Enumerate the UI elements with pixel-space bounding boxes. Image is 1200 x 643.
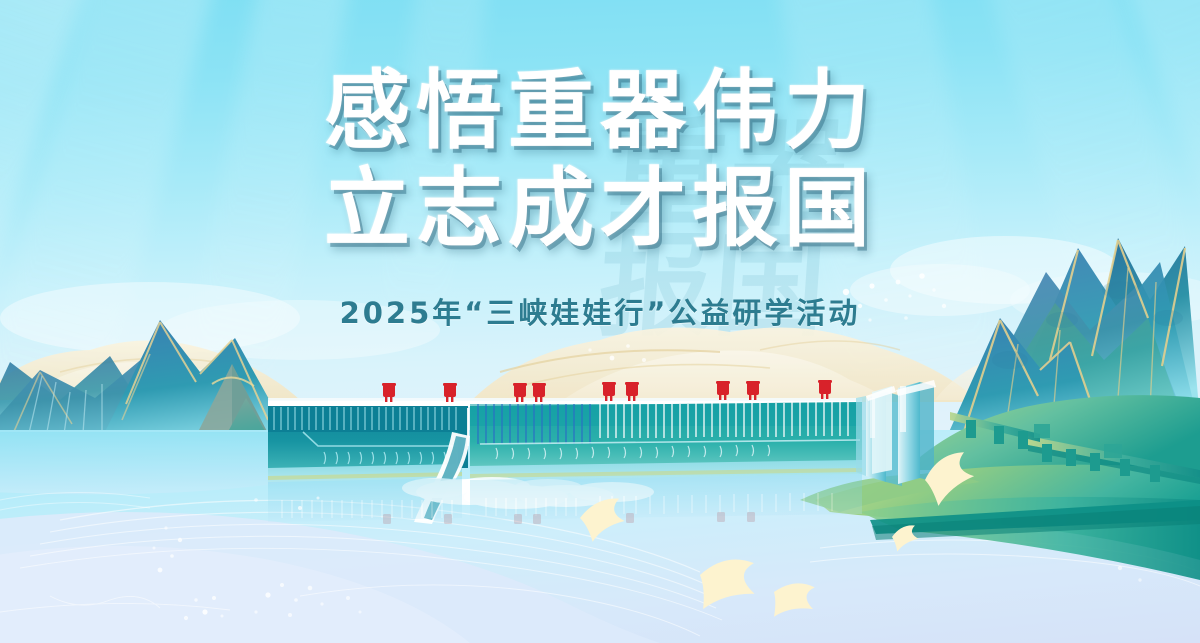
poster-canvas: 重器 报国 bbox=[0, 0, 1200, 643]
poster-subtitle: 2025年“三峡娃娃行”公益研学活动 bbox=[0, 290, 1200, 332]
poster-title: 感悟重器伟力 立志成才报国 bbox=[0, 62, 1200, 258]
title-line-1: 感悟重器伟力 bbox=[0, 62, 1200, 160]
title-line-2: 立志成才报国 bbox=[0, 160, 1200, 258]
